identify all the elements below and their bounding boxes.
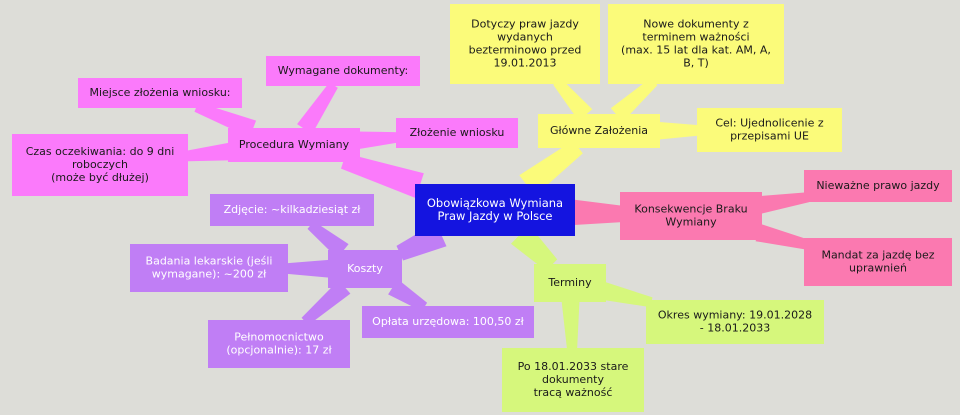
node-dotyczy-praw-jazdy[interactable]: Dotyczy praw jazdywydanychbezterminowo p… — [450, 4, 600, 84]
node-oplata-urzedowa[interactable]: Opłata urzędowa: 100,50 zł — [362, 306, 534, 338]
connector — [756, 224, 810, 250]
node-nowe-dokumenty-label: (max. 15 lat dla kat. AM, A, — [621, 44, 771, 57]
node-zlozenie-wniosku-label: Złożenie wniosku — [410, 126, 505, 139]
connector — [570, 199, 625, 225]
node-miejsce-zlozenia-wniosku-label: Miejsce złożenia wniosku: — [89, 86, 230, 99]
root-node-label: Praw Jazdy w Polsce — [437, 209, 552, 223]
node-pelnomocnictwo[interactable]: Pełnomocnictwo(opcjonalnie): 17 zł — [208, 320, 350, 368]
connector — [355, 132, 400, 150]
node-dotyczy-praw-jazdy-label: bezterminowo przed — [469, 44, 582, 57]
node-zdjecie-label: Zdjęcie: ~kilkadziesiąt zł — [224, 203, 362, 216]
node-cel-ujednolicenie-label: przepisami UE — [730, 130, 809, 143]
node-wymagane-dokumenty-label: Wymagane dokumenty: — [278, 64, 409, 77]
node-pelnomocnictwo-label: (opcjonalnie): 17 zł — [226, 344, 332, 357]
connector — [297, 82, 338, 134]
node-dotyczy-praw-jazdy-label: wydanych — [497, 31, 553, 44]
node-procedura-wymiany[interactable]: Procedura Wymiany — [228, 128, 360, 162]
node-wymagane-dokumenty[interactable]: Wymagane dokumenty: — [266, 56, 420, 86]
node-procedura-wymiany-label: Procedura Wymiany — [239, 138, 350, 151]
node-okres-wymiany-label: - 18.01.2033 — [700, 322, 770, 335]
connector — [656, 122, 701, 140]
node-oplata-urzedowa-label: Opłata urzędowa: 100,50 zł — [372, 315, 525, 328]
root-node[interactable]: Obowiązkowa WymianaPraw Jazdy w Polsce — [415, 184, 575, 236]
node-nowe-dokumenty-label: terminem ważności — [642, 31, 749, 44]
node-po-2033[interactable]: Po 18.01.2033 staredokumentytracą ważnoś… — [502, 348, 644, 412]
node-mandat-za-jazde-label: uprawnień — [849, 262, 907, 275]
node-cel-ujednolicenie[interactable]: Cel: Ujednolicenie zprzepisami UE — [697, 108, 842, 152]
node-mandat-za-jazde[interactable]: Mandat za jazdę bezuprawnień — [804, 238, 952, 286]
node-czas-oczekiwania-label: (może być dłużej) — [51, 171, 149, 184]
node-zlozenie-wniosku[interactable]: Złożenie wniosku — [396, 118, 518, 148]
connector — [756, 192, 809, 214]
node-nowe-dokumenty-label: B, T) — [683, 57, 709, 70]
connector — [562, 301, 580, 351]
node-dotyczy-praw-jazdy-label: 19.01.2013 — [494, 57, 557, 70]
node-cel-ujednolicenie-label: Cel: Ujednolicenie z — [715, 117, 823, 130]
node-konsekwencje-braku-wymiany[interactable]: Konsekwencje BrakuWymiany — [620, 192, 762, 240]
node-terminy-label: Terminy — [547, 276, 592, 289]
node-po-2033-label: dokumenty — [542, 373, 604, 386]
node-czas-oczekiwania-label: Czas oczekiwania: do 9 dni — [26, 145, 175, 158]
node-badania-lekarskie-label: wymagane): ~200 zł — [152, 268, 267, 281]
node-pelnomocnictwo-label: Pełnomocnictwo — [234, 331, 324, 344]
node-konsekwencje-braku-wymiany-label: Wymiany — [665, 216, 717, 229]
node-okres-wymiany-label: Okres wymiany: 19.01.2028 — [658, 309, 812, 322]
mindmap-svg: Dotyczy praw jazdywydanychbezterminowo p… — [0, 0, 960, 415]
node-po-2033-label: tracą ważność — [534, 386, 613, 399]
root-node-label: Obowiązkowa Wymiana — [427, 196, 563, 210]
node-badania-lekarskie-label: Badania lekarskie (jeśli — [146, 255, 273, 268]
node-miejsce-zlozenia-wniosku[interactable]: Miejsce złożenia wniosku: — [78, 78, 242, 108]
node-badania-lekarskie[interactable]: Badania lekarskie (jeśliwymagane): ~200 … — [130, 244, 288, 292]
node-niewazne-prawo-jazdy[interactable]: Nieważne prawo jazdy — [804, 170, 952, 202]
connector — [283, 260, 330, 278]
node-nowe-dokumenty[interactable]: Nowe dokumenty zterminem ważności(max. 1… — [608, 4, 784, 84]
node-po-2033-label: Po 18.01.2033 stare — [518, 360, 629, 373]
node-dotyczy-praw-jazdy-label: Dotyczy praw jazdy — [471, 18, 579, 31]
node-glowne-zalozenia-label: Główne Założenia — [550, 124, 648, 137]
connector — [602, 282, 653, 307]
node-okres-wymiany[interactable]: Okres wymiany: 19.01.2028- 18.01.2033 — [646, 300, 824, 344]
node-czas-oczekiwania-label: roboczych — [72, 158, 128, 171]
node-zdjecie[interactable]: Zdjęcie: ~kilkadziesiąt zł — [210, 194, 374, 226]
node-terminy[interactable]: Terminy — [534, 264, 606, 302]
node-czas-oczekiwania[interactable]: Czas oczekiwania: do 9 dniroboczych(może… — [12, 134, 188, 196]
node-niewazne-prawo-jazdy-label: Nieważne prawo jazdy — [816, 179, 940, 192]
node-mandat-za-jazde-label: Mandat za jazdę bez — [821, 249, 934, 262]
node-koszty-label: Koszty — [347, 262, 383, 275]
node-layer: Dotyczy praw jazdywydanychbezterminowo p… — [12, 4, 952, 412]
node-nowe-dokumenty-label: Nowe dokumenty z — [643, 18, 749, 31]
node-glowne-zalozenia[interactable]: Główne Założenia — [538, 114, 660, 148]
connector — [182, 142, 233, 161]
node-koszty[interactable]: Koszty — [328, 250, 402, 288]
mindmap-canvas: Dotyczy praw jazdywydanychbezterminowo p… — [0, 0, 960, 415]
node-konsekwencje-braku-wymiany-label: Konsekwencje Braku — [634, 203, 747, 216]
